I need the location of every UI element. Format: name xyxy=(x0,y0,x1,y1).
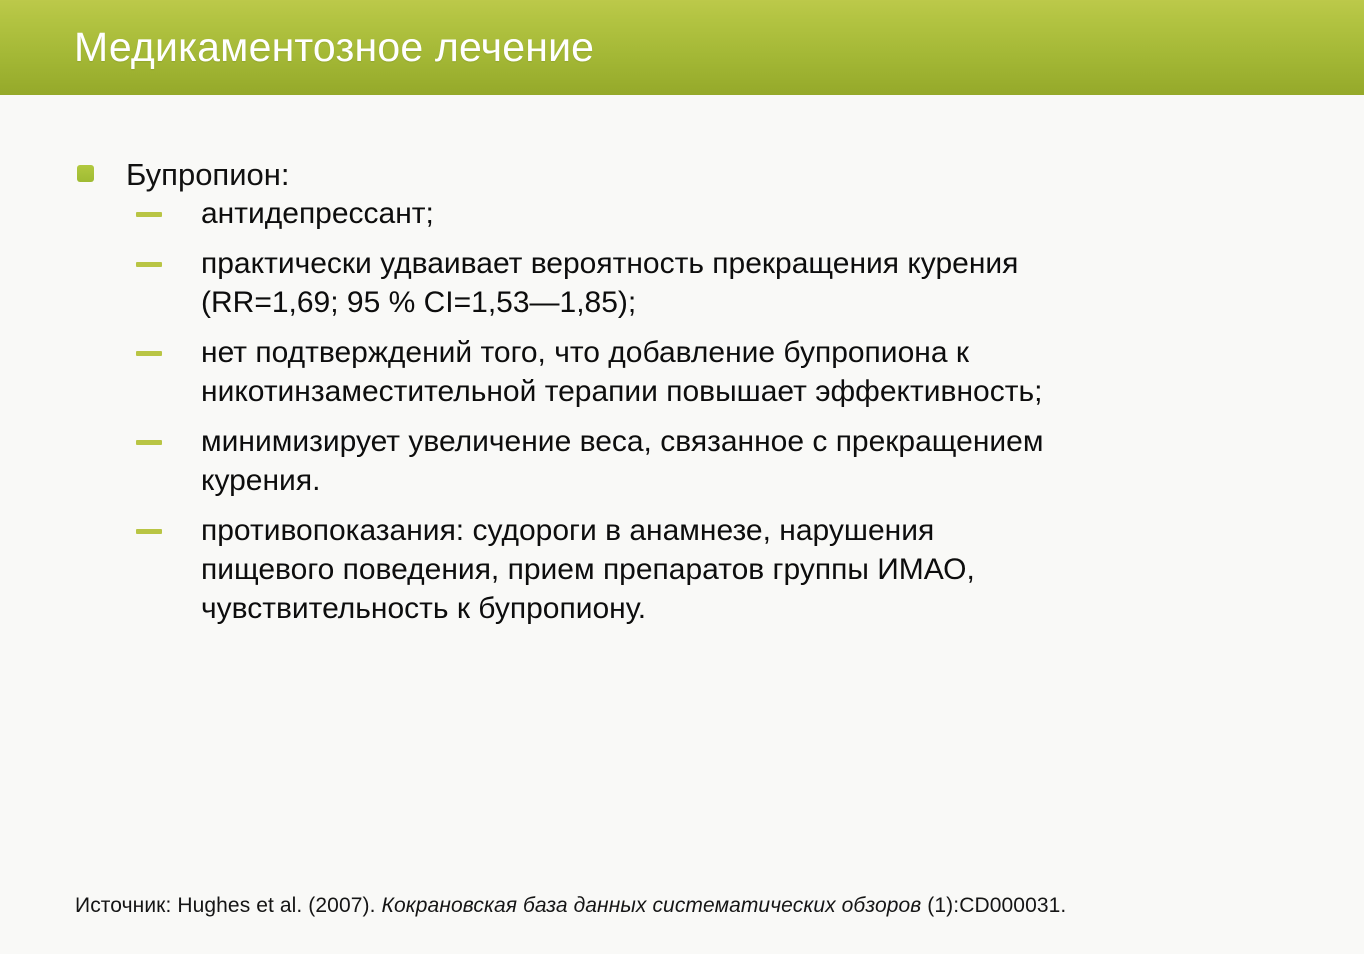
list-item: нет подтверждений того, что добавление б… xyxy=(126,333,1321,411)
list-item-label: антидепрессант; xyxy=(201,194,1321,233)
list-item: практически удваивает вероятность прекра… xyxy=(126,244,1321,322)
slide-content: Бупропион: антидепрессант; практически у… xyxy=(0,95,1364,855)
list-item-label: минимизирует увеличение веса, связанное … xyxy=(201,422,1321,500)
bullet-list-level1: Бупропион: антидепрессант; практически у… xyxy=(0,95,1364,628)
source-prefix: Источник: Hughes et al. (2007). xyxy=(75,894,381,917)
slide-title-bar: Медикаментозное лечение xyxy=(0,0,1364,95)
square-bullet-icon xyxy=(77,165,94,182)
source-citation: Источник: Hughes et al. (2007). Кокранов… xyxy=(75,894,1066,918)
source-suffix: (1):CD000031. xyxy=(921,894,1066,917)
list-item: антидепрессант; xyxy=(126,194,1321,233)
list-item-label: практически удваивает вероятность прекра… xyxy=(201,244,1321,322)
page-title: Медикаментозное лечение xyxy=(74,27,594,68)
list-item-level1-label: Бупропион: xyxy=(126,95,1364,194)
dash-bullet-icon xyxy=(136,351,162,356)
source-journal-title: Кокрановская база данных систематических… xyxy=(381,894,921,917)
slide: Медикаментозное лечение Бупропион: антид… xyxy=(0,0,1364,954)
list-item-level1: Бупропион: антидепрессант; практически у… xyxy=(0,95,1364,628)
list-item-label: противопоказания: судороги в анамнезе, н… xyxy=(201,511,1321,628)
dash-bullet-icon xyxy=(136,212,162,217)
dash-bullet-icon xyxy=(136,529,162,534)
slide-footer: Источник: Hughes et al. (2007). Кокранов… xyxy=(0,858,1364,954)
list-item: минимизирует увеличение веса, связанное … xyxy=(126,422,1321,500)
bullet-list-level2: антидепрессант; практически удваивает ве… xyxy=(126,194,1364,628)
dash-bullet-icon xyxy=(136,262,162,267)
list-item-label: нет подтверждений того, что добавление б… xyxy=(201,333,1321,411)
dash-bullet-icon xyxy=(136,440,162,445)
list-item: противопоказания: судороги в анамнезе, н… xyxy=(126,511,1321,628)
